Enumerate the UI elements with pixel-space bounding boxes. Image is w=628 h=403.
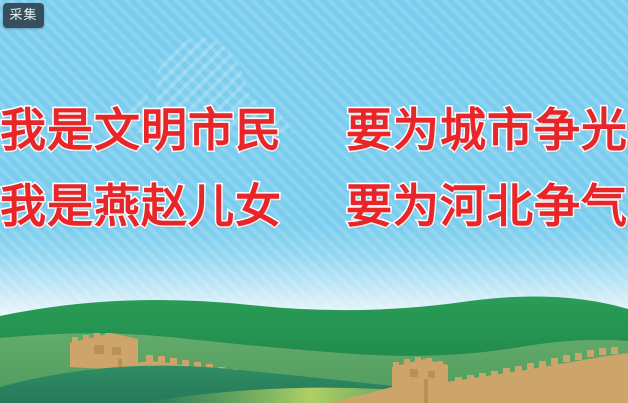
banner-slogan: 我是文明市民 要为城市争光 我是燕赵儿女 要为河北争气: [0, 92, 628, 244]
slogan-line-2: 我是燕赵儿女 要为河北争气: [0, 168, 628, 244]
slogan-line-1-left: 我是文明市民: [0, 103, 282, 157]
slogan-line-1: 我是文明市民 要为城市争光: [0, 92, 628, 168]
slogan-line-1-right: 要为城市争光: [346, 103, 628, 157]
banner-screenshot: 我是文明市民 要为城市争光 我是燕赵儿女 要为河北争气 采集: [0, 0, 628, 403]
capture-button[interactable]: 采集: [3, 3, 44, 28]
slogan-line-2-right: 要为河北争气: [346, 179, 628, 233]
slogan-line-2-left: 我是燕赵儿女: [0, 179, 282, 233]
landscape-illustration: [0, 283, 628, 403]
